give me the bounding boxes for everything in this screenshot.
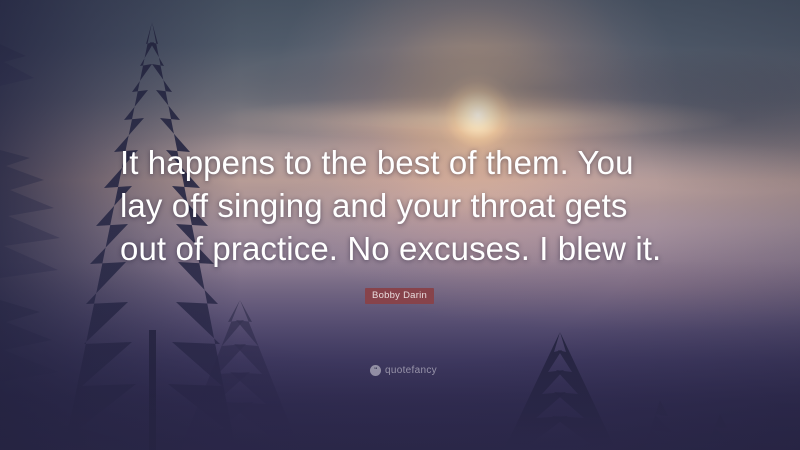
- watermark-brand-label: quotefancy: [385, 365, 437, 376]
- quote-text: It happens to the best of them. You lay …: [120, 141, 700, 270]
- quote-mark-badge-icon: “: [370, 365, 381, 376]
- author-badge: Bobby Darin: [365, 288, 434, 304]
- quote-wallpaper: It happens to the best of them. You lay …: [0, 0, 800, 450]
- watermark: “ quotefancy: [370, 365, 437, 376]
